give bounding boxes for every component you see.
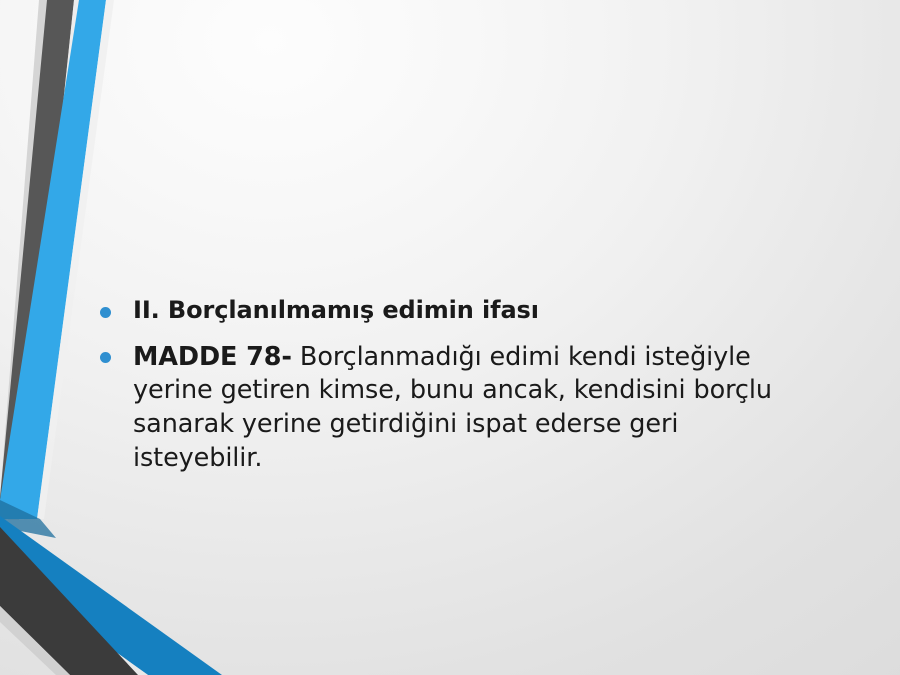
heading-text: II. Borçlanılmamış edimin ifası	[133, 296, 806, 325]
stripe-upper-blue	[0, 0, 106, 519]
stripe-gap-lower	[0, 569, 148, 675]
stripe-shadow-lower-gray	[0, 606, 70, 675]
article-label: MADDE 78-	[133, 342, 292, 372]
slide-canvas: II. Borçlanılmamış edimin ifası MADDE 78…	[0, 0, 900, 675]
list-item: II. Borçlanılmamış edimin ifası	[100, 296, 806, 325]
content-placeholder: II. Borçlanılmamış edimin ifası MADDE 78…	[100, 296, 806, 475]
list-item: MADDE 78- Borçlanmadığı edimi kendi iste…	[100, 341, 772, 476]
article-paragraph: MADDE 78- Borçlanmadığı edimi kendi iste…	[133, 341, 772, 476]
stripe-lower-blue	[0, 516, 222, 675]
stripe-gap-upper	[19, 0, 79, 520]
bullet-dot-icon	[100, 307, 111, 318]
stripe-fold-shading	[0, 500, 56, 538]
stripe-shadow-upper-blue	[8, 0, 84, 520]
stripe-shadow-upper-gray	[0, 0, 50, 522]
stripe-upper-gray	[0, 0, 74, 519]
stripe-lower-gray	[0, 527, 138, 675]
bullet-dot-icon	[100, 352, 111, 363]
